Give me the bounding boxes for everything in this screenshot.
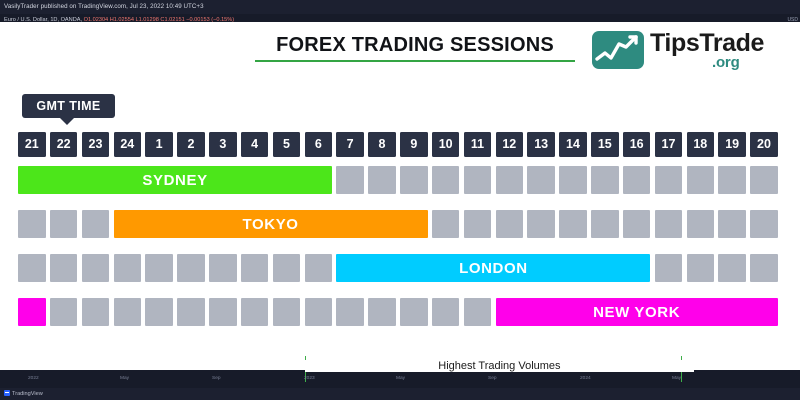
inactive-slot: [464, 298, 492, 326]
date-tick: May: [672, 376, 681, 381]
tipstrade-logo: TipsTrade .org: [592, 27, 777, 79]
hour-box-17[interactable]: 17: [655, 132, 683, 157]
session-bar-sydney[interactable]: SYDNEY: [18, 166, 332, 194]
inactive-slot: [114, 298, 142, 326]
inactive-slot: [623, 166, 651, 194]
inactive-slot: [655, 254, 683, 282]
inactive-slot: [209, 298, 237, 326]
inactive-slot: [623, 210, 651, 238]
hour-box-15[interactable]: 15: [591, 132, 619, 157]
inactive-slot: [177, 254, 205, 282]
hour-box-14[interactable]: 14: [559, 132, 587, 157]
logo-wordmark: TipsTrade: [650, 29, 764, 58]
inactive-slot: [559, 210, 587, 238]
inactive-slot: [50, 298, 78, 326]
inactive-slot: [50, 210, 78, 238]
inactive-slot: [336, 166, 364, 194]
logo-tld: .org: [712, 54, 740, 71]
inactive-slot: [655, 210, 683, 238]
hour-box-6[interactable]: 6: [305, 132, 333, 157]
inactive-slot: [750, 210, 778, 238]
session-label: LONDON: [336, 260, 650, 277]
hour-box-23[interactable]: 23: [82, 132, 110, 157]
inactive-slot: [464, 166, 492, 194]
date-tick: 2024: [580, 376, 591, 381]
hour-box-19[interactable]: 19: [718, 132, 746, 157]
inactive-slot: [432, 166, 460, 194]
inactive-slot: [655, 166, 683, 194]
inactive-slot: [527, 166, 555, 194]
inactive-slot: [496, 166, 524, 194]
tradingview-screenshot: VasilyTrader published on TradingView.co…: [0, 0, 800, 400]
date-tick: 2023: [304, 376, 315, 381]
hour-box-24[interactable]: 24: [114, 132, 142, 157]
title-underline: [255, 60, 575, 62]
date-tick: Sep: [212, 376, 221, 381]
inactive-slot: [559, 166, 587, 194]
infographic-card: FOREX TRADING SESSIONS TipsTrade .org GM…: [0, 22, 800, 370]
hour-box-5[interactable]: 5: [273, 132, 301, 157]
inactive-slot: [50, 254, 78, 282]
gmt-time-badge: GMT TIME: [22, 94, 115, 118]
hour-box-21[interactable]: 21: [18, 132, 46, 157]
inactive-slot: [305, 254, 333, 282]
hour-box-3[interactable]: 3: [209, 132, 237, 157]
inactive-slot: [368, 166, 396, 194]
inactive-slot: [177, 298, 205, 326]
session-bar-new-york[interactable]: NEW YORK: [496, 298, 778, 326]
inactive-slot: [82, 298, 110, 326]
inactive-slot: [687, 254, 715, 282]
inactive-slot: [18, 210, 46, 238]
inactive-slot: [432, 210, 460, 238]
hour-box-13[interactable]: 13: [527, 132, 555, 157]
inactive-slot: [145, 298, 173, 326]
hour-box-11[interactable]: 11: [464, 132, 492, 157]
inactive-slot: [591, 166, 619, 194]
inactive-slot: [241, 254, 269, 282]
gmt-badge-pointer: [60, 118, 74, 125]
tradingview-brand: TradingView: [12, 391, 43, 397]
inactive-slot: [718, 166, 746, 194]
inactive-slot: [305, 298, 333, 326]
session-label: NEW YORK: [496, 304, 778, 321]
hour-box-4[interactable]: 4: [241, 132, 269, 157]
date-tick: Sep: [488, 376, 497, 381]
inactive-slot: [18, 254, 46, 282]
inactive-slot: [145, 254, 173, 282]
date-tick: May: [396, 376, 405, 381]
annotation-label: Highest Trading Volumes: [305, 360, 695, 372]
hour-box-7[interactable]: 7: [336, 132, 364, 157]
hour-box-8[interactable]: 8: [368, 132, 396, 157]
hour-box-20[interactable]: 20: [750, 132, 778, 157]
inactive-slot: [368, 298, 396, 326]
inactive-slot: [718, 210, 746, 238]
session-bar-tokyo[interactable]: TOKYO: [114, 210, 428, 238]
hour-box-12[interactable]: 12: [496, 132, 524, 157]
chart-line-icon: [592, 31, 644, 69]
date-axis: 2022MaySep2023MaySep2024May: [18, 376, 758, 386]
hour-box-1[interactable]: 1: [145, 132, 173, 157]
tradingview-attribution: VasilyTrader published on TradingView.co…: [0, 0, 800, 14]
inactive-slot: [209, 254, 237, 282]
page-title: FOREX TRADING SESSIONS: [250, 34, 580, 57]
hour-box-22[interactable]: 22: [50, 132, 78, 157]
hour-box-2[interactable]: 2: [177, 132, 205, 157]
hour-box-10[interactable]: 10: [432, 132, 460, 157]
session-bar-london[interactable]: LONDON: [336, 254, 650, 282]
date-tick: May: [120, 376, 129, 381]
inactive-slot: [432, 298, 460, 326]
inactive-slot: [273, 254, 301, 282]
inactive-slot: [718, 254, 746, 282]
session-label: TOKYO: [114, 216, 428, 233]
inactive-slot: [241, 298, 269, 326]
hour-box-9[interactable]: 9: [400, 132, 428, 157]
tradingview-footer: TradingView: [0, 388, 800, 400]
inactive-slot: [273, 298, 301, 326]
inactive-slot: [527, 210, 555, 238]
session-label: SYDNEY: [18, 172, 332, 189]
hour-box-18[interactable]: 18: [687, 132, 715, 157]
inactive-slot: [82, 254, 110, 282]
inactive-slot: [336, 298, 364, 326]
inactive-slot: [400, 166, 428, 194]
session-bar-new-york[interactable]: [18, 298, 46, 326]
inactive-slot: [114, 254, 142, 282]
inactive-slot: [400, 298, 428, 326]
inactive-slot: [687, 210, 715, 238]
date-tick: 2022: [28, 376, 39, 381]
inactive-slot: [591, 210, 619, 238]
inactive-slot: [464, 210, 492, 238]
inactive-slot: [750, 166, 778, 194]
inactive-slot: [496, 210, 524, 238]
tradingview-logo-icon: [4, 390, 10, 396]
inactive-slot: [82, 210, 110, 238]
inactive-slot: [750, 254, 778, 282]
inactive-slot: [687, 166, 715, 194]
hour-box-16[interactable]: 16: [623, 132, 651, 157]
